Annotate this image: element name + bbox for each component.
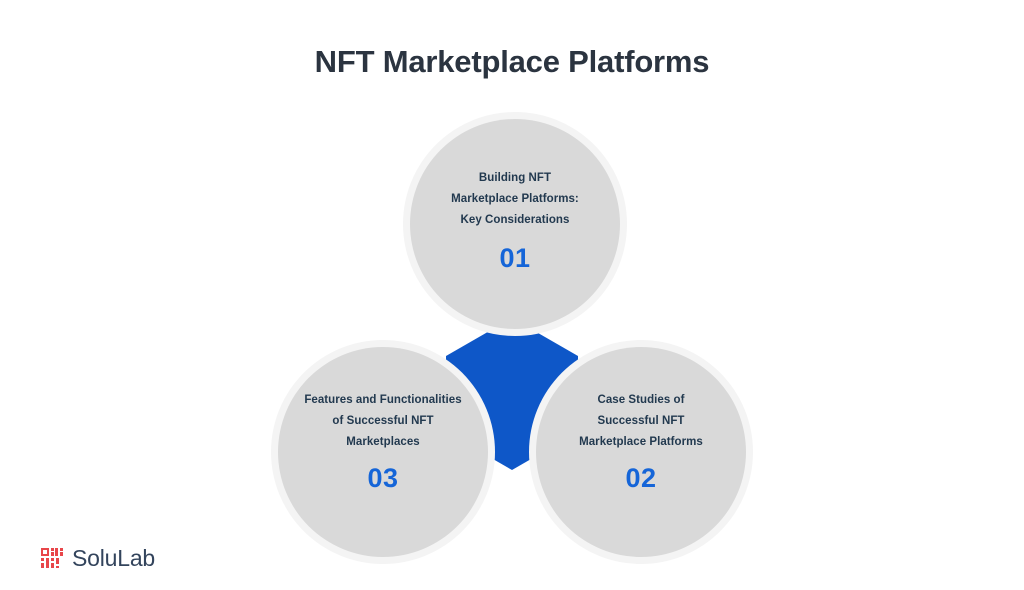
- node-1-label: Building NFT Marketplace Platforms: Key …: [410, 168, 620, 231]
- node-3-label-line-1: Features and Functionalities: [274, 390, 492, 411]
- node-3-number: 03: [274, 463, 492, 494]
- node-2-label: Case Studies of Successful NFT Marketpla…: [536, 390, 746, 453]
- node-2-label-line-3: Marketplace Platforms: [536, 432, 746, 453]
- node-1-label-line-3: Key Considerations: [410, 210, 620, 231]
- node-3-label-line-3: Marketplaces: [274, 432, 492, 453]
- brand-logo: SoluLab: [40, 546, 155, 570]
- three-circle-diagram: [0, 0, 1024, 590]
- brand-name: SoluLab: [72, 546, 155, 570]
- node-2-number: 02: [536, 463, 746, 494]
- node-2-label-line-2: Successful NFT: [536, 411, 746, 432]
- infographic-page: NFT Marketplace Platforms: [0, 0, 1024, 590]
- node-3-label: Features and Functionalities of Successf…: [274, 390, 492, 453]
- solulab-qr-mark-icon: [40, 546, 64, 570]
- node-1-number: 01: [410, 243, 620, 274]
- node-1-label-line-1: Building NFT: [410, 168, 620, 189]
- diagram-svg: [0, 0, 1024, 590]
- node-2-label-line-1: Case Studies of: [536, 390, 746, 411]
- node-1-label-line-2: Marketplace Platforms:: [410, 189, 620, 210]
- node-3-label-line-2: of Successful NFT: [274, 411, 492, 432]
